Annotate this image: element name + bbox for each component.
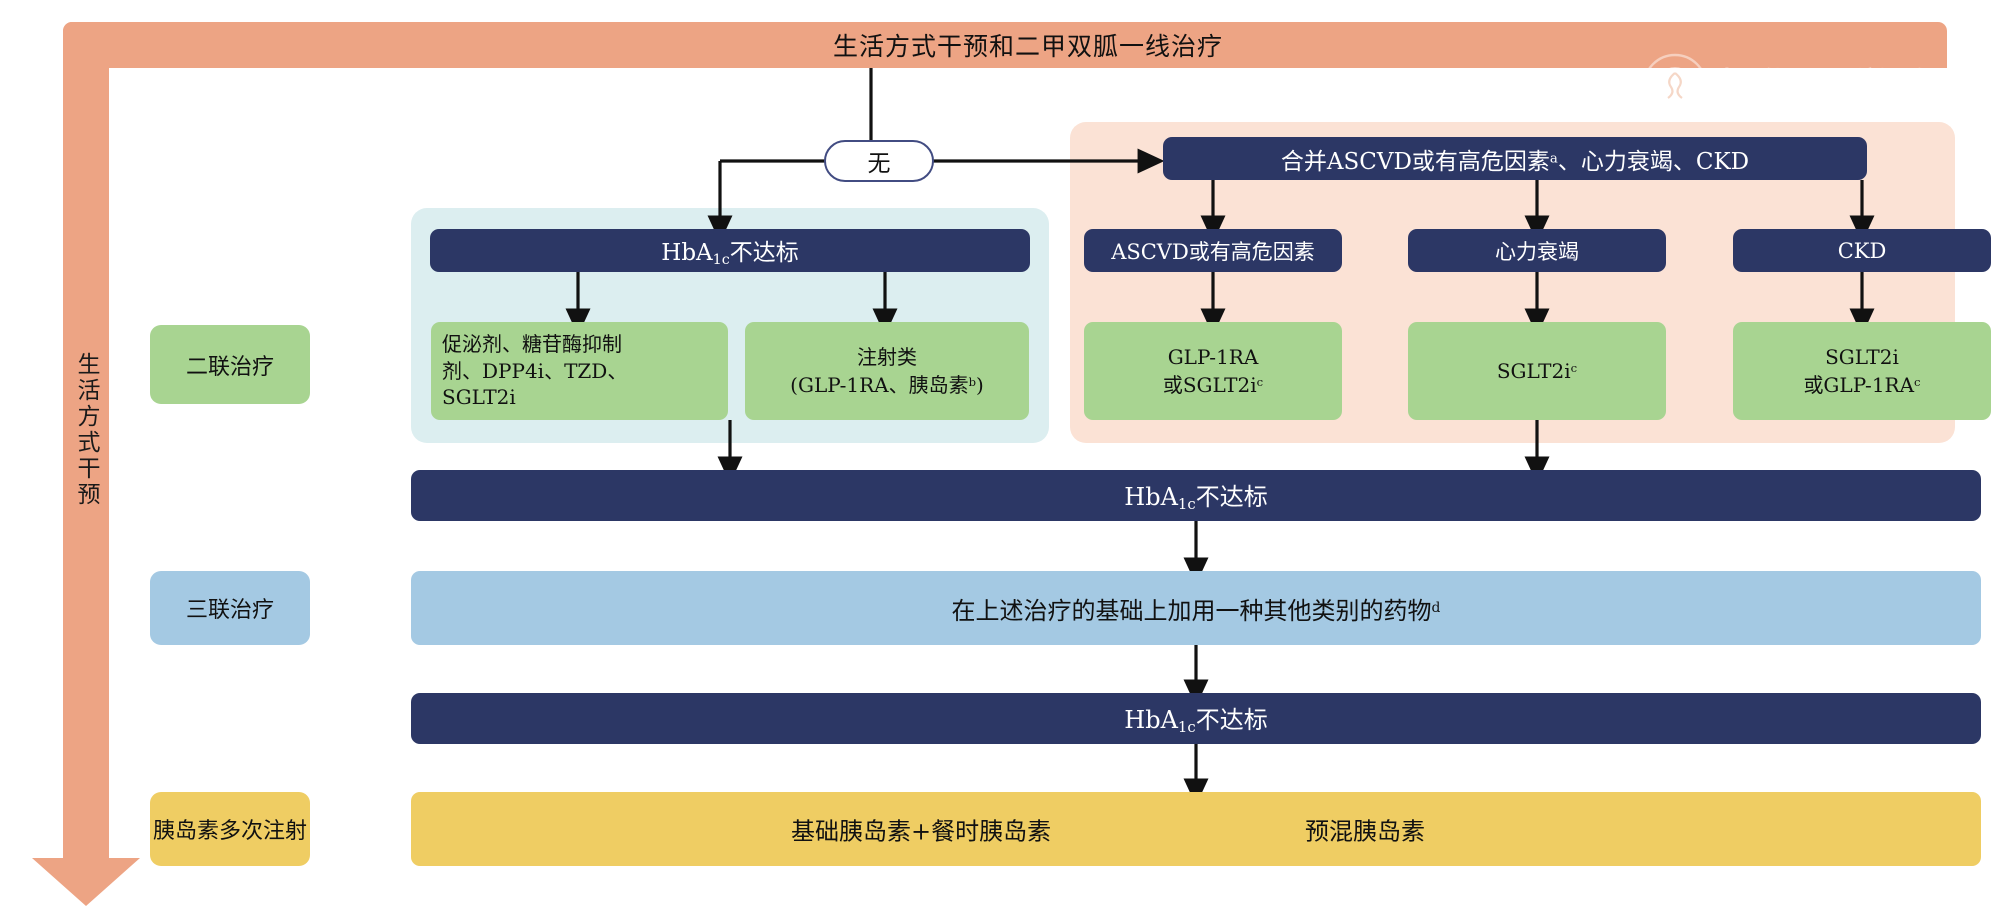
comorbid-header-label: 合并ASCVD或有高危因素a、心力衰竭、CKD — [1281, 142, 1749, 176]
page-title: 生活方式干预和二甲双胍一线治疗 — [109, 22, 1947, 68]
triple-therapy-label: 在上述治疗的基础上加用一种其他类别的药物d — [952, 591, 1441, 626]
left-option-oral-label: 促泌剂、糖苷酶抑制 剂、DPP4i、TZD、 SGLT2i — [442, 331, 627, 410]
stage-tag-triple-label: 三联治疗 — [186, 592, 274, 624]
hba1c-bar-2[interactable]: HbA1c不达标 — [411, 693, 1981, 744]
comorbid-header-box[interactable]: 合并ASCVD或有高危因素a、心力衰竭、CKD — [1163, 137, 1867, 180]
flowchart-canvas: 生活方式干预 生活方式干预和二甲双胍一线治疗 中华医学会 — [0, 0, 1992, 921]
condition-box-heart-failure[interactable]: 心力衰竭 — [1408, 229, 1666, 272]
treatment-box-ascvd[interactable]: GLP-1RA 或SGLT2ic — [1084, 322, 1342, 420]
hba1c-bar-2-label: HbA1c不达标 — [1124, 700, 1267, 736]
lifestyle-band-label: 生活方式干预 — [63, 300, 109, 560]
lifestyle-arrow-icon — [22, 800, 150, 908]
hba1c-bar-1-label: HbA1c不达标 — [1124, 477, 1267, 513]
stage-tag-insulin-label: 胰岛素多次注射 — [153, 813, 307, 845]
insulin-premixed-label: 预混胰岛素 — [1305, 812, 1425, 847]
insulin-basal-bolus-label: 基础胰岛素+餐时胰岛素 — [791, 812, 1051, 847]
treatment-box-heart-failure[interactable]: SGLT2ic — [1408, 322, 1666, 420]
stage-tag-triple[interactable]: 三联治疗 — [150, 571, 310, 645]
stage-tag-insulin[interactable]: 胰岛素多次注射 — [150, 792, 310, 866]
left-option-oral-box[interactable]: 促泌剂、糖苷酶抑制 剂、DPP4i、TZD、 SGLT2i — [431, 322, 728, 420]
left-option-injectable-box[interactable]: 注射类 (GLP-1RA、胰岛素b) — [745, 322, 1029, 420]
left-hba1c-box[interactable]: HbA1c不达标 — [430, 229, 1030, 272]
branch-pill-label: 无 — [868, 144, 891, 178]
left-option-injectable-label: 注射类 (GLP-1RA、胰岛素b) — [790, 343, 984, 399]
left-hba1c-label: HbA1c不达标 — [661, 233, 798, 268]
condition-label-heart-failure: 心力衰竭 — [1495, 236, 1579, 266]
branch-pill-none[interactable]: 无 — [824, 140, 934, 182]
hba1c-bar-1[interactable]: HbA1c不达标 — [411, 470, 1981, 521]
lifestyle-band-label-text: 生活方式干预 — [69, 352, 103, 508]
triple-therapy-bar[interactable]: 在上述治疗的基础上加用一种其他类别的药物d — [411, 571, 1981, 645]
stage-tag-dual[interactable]: 二联治疗 — [150, 325, 310, 404]
condition-box-ckd[interactable]: CKD — [1733, 229, 1991, 272]
treatment-label-heart-failure: SGLT2ic — [1497, 357, 1577, 385]
treatment-label-ckd: SGLT2i 或GLP-1RAc — [1803, 343, 1920, 399]
condition-label-ascvd: ASCVD或有高危因素 — [1111, 236, 1315, 266]
stage-tag-dual-label: 二联治疗 — [186, 349, 274, 381]
insulin-bar[interactable]: 基础胰岛素+餐时胰岛素 预混胰岛素 — [411, 792, 1981, 866]
condition-label-ckd: CKD — [1838, 239, 1887, 263]
condition-box-ascvd[interactable]: ASCVD或有高危因素 — [1084, 229, 1342, 272]
treatment-box-ckd[interactable]: SGLT2i 或GLP-1RAc — [1733, 322, 1991, 420]
treatment-label-ascvd: GLP-1RA 或SGLT2ic — [1163, 343, 1263, 399]
